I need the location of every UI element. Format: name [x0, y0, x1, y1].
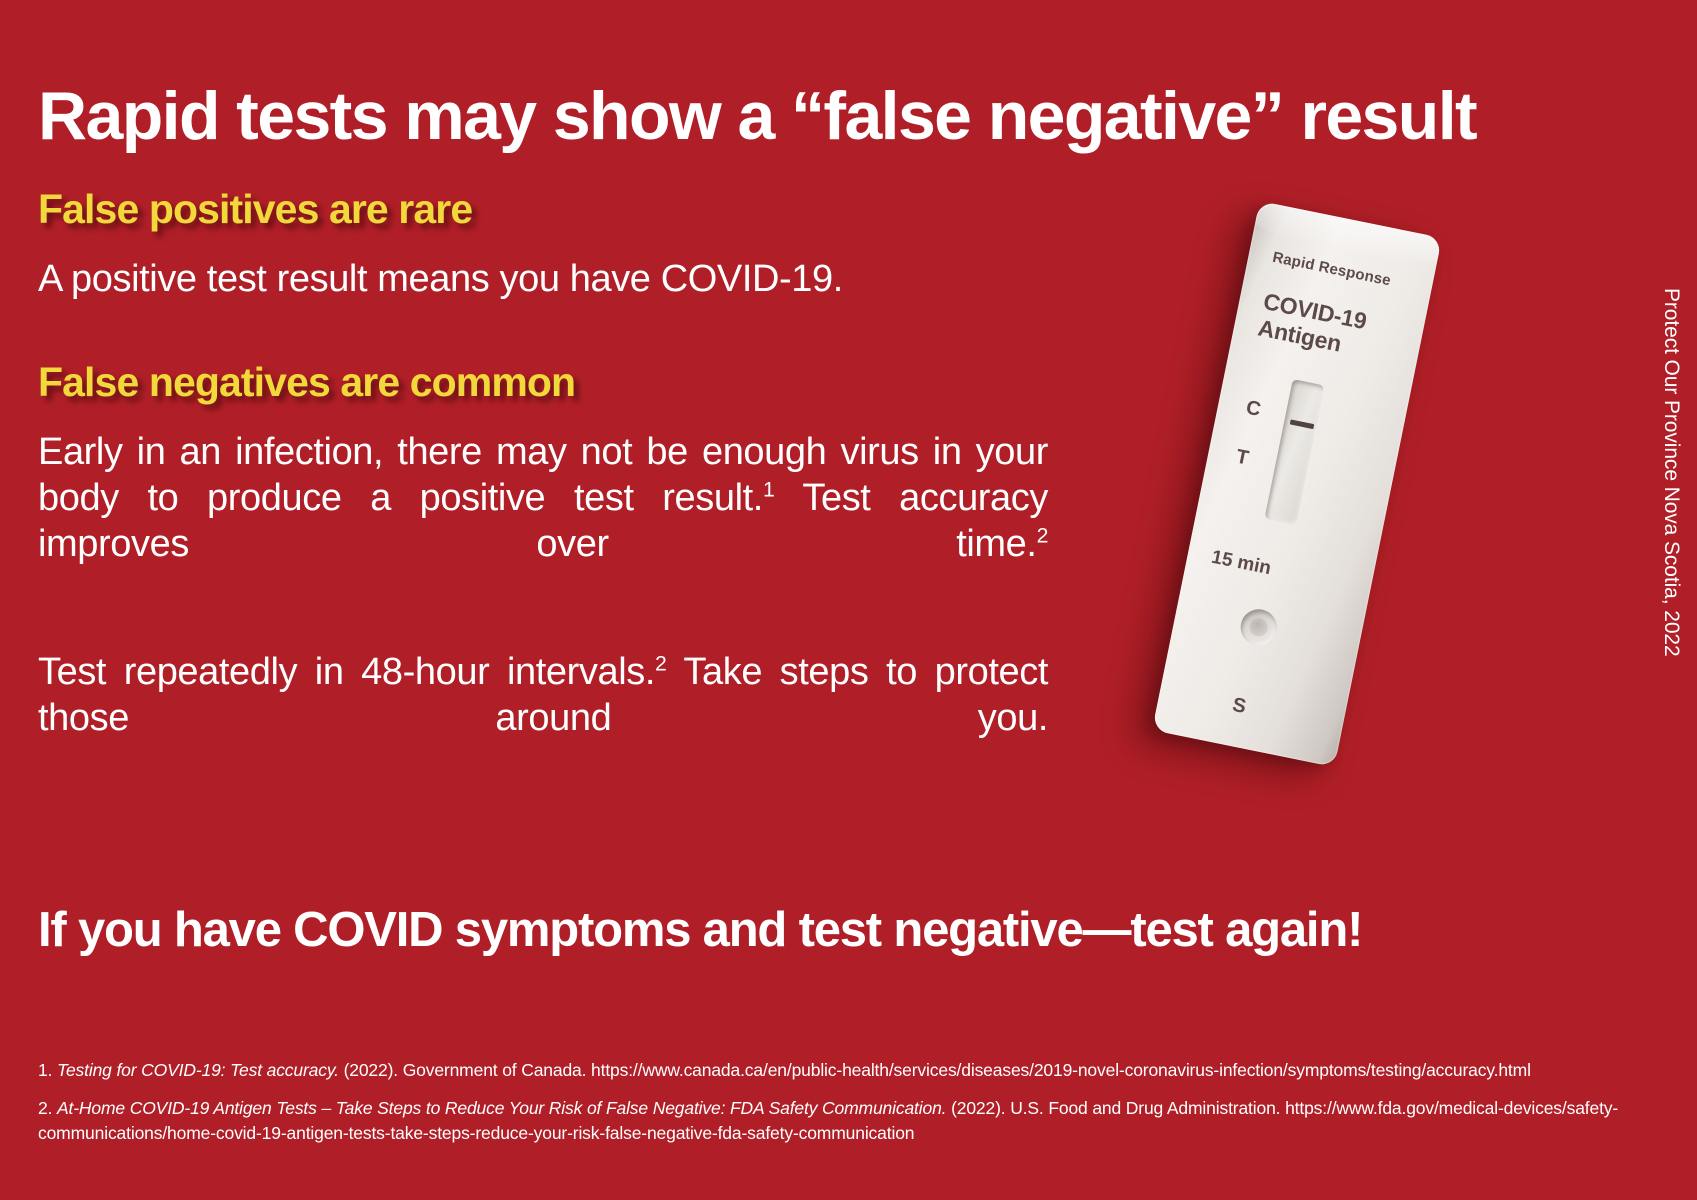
footnote-2-title: At-Home COVID-19 Antigen Tests – Take St…	[57, 1098, 946, 1118]
test-mark-label: T	[1234, 446, 1251, 471]
section-heading-false-negatives: False negatives are common	[38, 361, 1048, 404]
section-body-false-negatives-paragraph-1: Early in an infection, there may not be …	[38, 430, 1048, 614]
footnote-1-title: Testing for COVID-19: Test accuracy.	[57, 1060, 339, 1080]
device-brand-label: Rapid Response	[1271, 249, 1392, 290]
main-content: False positives are rare A positive test…	[38, 188, 1048, 788]
footnote-1-source: (2022). Government of Canada. https://ww…	[339, 1060, 1531, 1080]
device-product-label: COVID-19Antigen	[1256, 288, 1369, 362]
sample-well	[1237, 606, 1279, 648]
footnote-ref-2b: 2	[655, 651, 666, 675]
result-window	[1265, 379, 1325, 525]
footnote-ref-1: 1	[763, 477, 774, 501]
control-mark-label: C	[1244, 397, 1263, 422]
credit-vertical-text: Protect Our Province Nova Scotia, 2022	[1659, 288, 1683, 657]
rapid-test-cassette: Rapid Response COVID-19Antigen C T 15 mi…	[1152, 201, 1442, 767]
spacer	[38, 614, 1048, 650]
read-time-label: 15 min	[1209, 547, 1272, 581]
section-heading-false-positives: False positives are rare	[38, 188, 1048, 231]
footnotes: 1. Testing for COVID-19: Test accuracy. …	[38, 1058, 1664, 1159]
body-text-c: Test repeatedly in 48-hour intervals.	[38, 651, 655, 693]
footnote-2: 2. At-Home COVID-19 Antigen Tests – Take…	[38, 1096, 1664, 1146]
footnote-1-number: 1.	[38, 1060, 52, 1080]
page-title: Rapid tests may show a “false negative” …	[38, 82, 1668, 150]
poster-canvas: Rapid tests may show a “false negative” …	[0, 0, 1697, 1200]
rapid-test-photo: Rapid Response COVID-19Antigen C T 15 mi…	[1108, 200, 1548, 790]
device-product-line-2: Antigen	[1256, 315, 1344, 357]
control-line-indicator	[1290, 419, 1315, 429]
call-to-action-line: If you have COVID symptoms and test nega…	[38, 902, 1678, 958]
section-body-false-negatives-paragraph-2: Test repeatedly in 48-hour intervals.2 T…	[38, 650, 1048, 788]
spacer	[38, 303, 1048, 361]
footnote-ref-2a: 2	[1037, 523, 1048, 547]
sample-mark-label: S	[1230, 694, 1248, 719]
device-product-line-1: COVID-19	[1261, 288, 1369, 334]
footnote-2-number: 2.	[38, 1098, 52, 1118]
footnote-1: 1. Testing for COVID-19: Test accuracy. …	[38, 1058, 1664, 1083]
section-body-false-positives: A positive test result means you have CO…	[38, 257, 1048, 303]
